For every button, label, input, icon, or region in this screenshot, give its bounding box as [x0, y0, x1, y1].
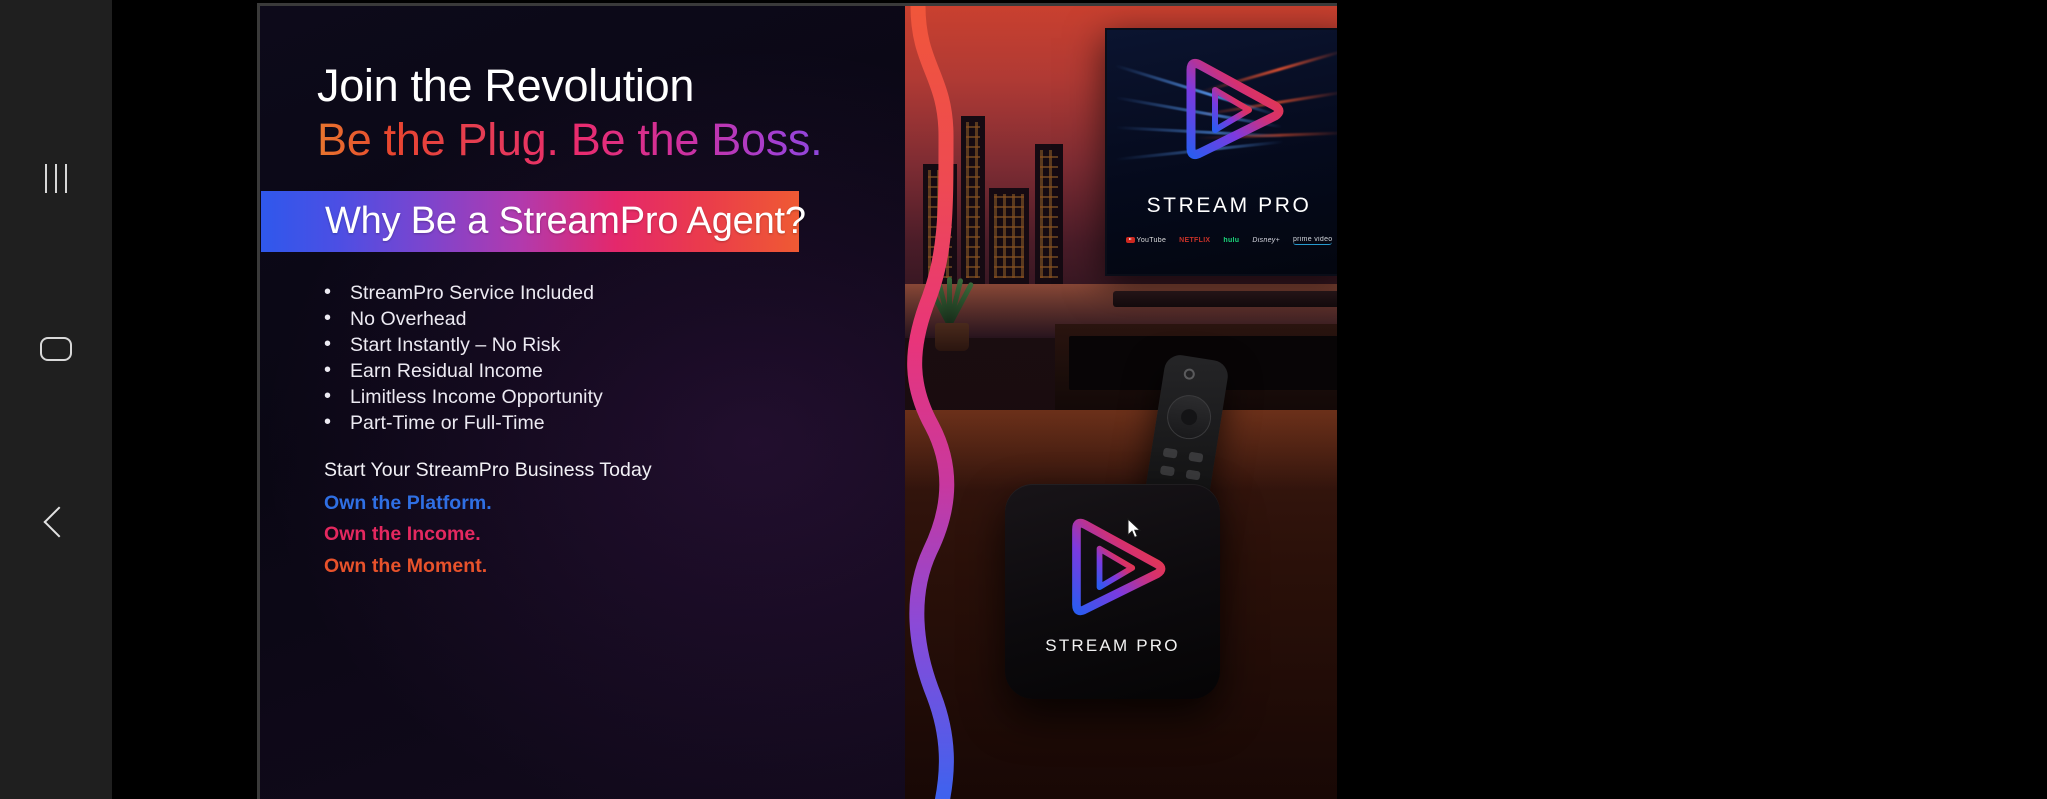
prime-video-logo-icon: prime video — [1293, 236, 1332, 245]
skyline-building — [989, 188, 1029, 284]
recents-button[interactable]: Recents — [0, 122, 112, 234]
television: STREAM PRO YouTube NETFLIX hulu Disney+ … — [1105, 28, 1337, 276]
remote-button — [1188, 452, 1203, 463]
hulu-logo-icon: hulu — [1223, 237, 1239, 244]
skyline-building — [1035, 144, 1063, 284]
headline-line-1: Join the Revolution — [317, 62, 897, 110]
stream-pro-play-logo-icon — [1171, 56, 1287, 160]
closing-own-moment: Own the Moment. — [324, 557, 884, 577]
list-item: Part-Time or Full-Time — [324, 414, 884, 434]
stream-pro-box: STREAM PRO — [1005, 484, 1220, 699]
box-brand-text: STREAM PRO — [1005, 636, 1220, 656]
mouse-cursor — [1127, 518, 1143, 540]
netflix-logo-icon: NETFLIX — [1179, 237, 1210, 244]
letterbox-right — [1337, 0, 2047, 799]
remote-button — [1160, 465, 1175, 476]
letterbox-left — [112, 0, 257, 799]
list-item: Earn Residual Income — [324, 362, 884, 382]
benefits-list: StreamPro Service Included No Overhead S… — [324, 284, 884, 440]
chevron-left-icon — [43, 506, 74, 537]
home-icon — [40, 337, 72, 361]
headline-block: Join the Revolution Be the Plug. Be the … — [317, 62, 897, 165]
recents-icon — [45, 164, 67, 193]
headline-line-2: Be the Plug. Be the Boss. — [317, 115, 897, 165]
youtube-label: YouTube — [1137, 237, 1167, 244]
slide-canvas[interactable]: Join the Revolution Be the Plug. Be the … — [257, 3, 1337, 799]
closing-lead: Start Your StreamPro Business Today — [324, 461, 884, 481]
list-item: Limitless Income Opportunity — [324, 388, 884, 408]
tv-brand-text: STREAM PRO — [1107, 194, 1337, 218]
wavy-divider — [900, 6, 970, 799]
slide-text-panel: Join the Revolution Be the Plug. Be the … — [260, 6, 920, 799]
stream-pro-play-logo-icon — [1057, 516, 1169, 616]
list-item: Start Instantly – No Risk — [324, 336, 884, 356]
youtube-logo-icon: YouTube — [1126, 237, 1167, 244]
android-navigation-bar: Recents Home Back — [0, 0, 112, 799]
remote-button — [1185, 469, 1200, 480]
home-button[interactable]: Home — [0, 293, 112, 405]
closing-own-income: Own the Income. — [324, 525, 884, 545]
prime-video-label: prime video — [1293, 236, 1332, 243]
why-banner-text: Why Be a StreamPro Agent? — [325, 200, 806, 243]
closing-block: Start Your StreamPro Business Today Own … — [324, 461, 884, 588]
why-banner: Why Be a StreamPro Agent? — [261, 191, 799, 252]
back-button[interactable]: Back — [0, 466, 112, 578]
dpad-icon — [1164, 392, 1214, 442]
list-item: StreamPro Service Included — [324, 284, 884, 304]
phone-screen: Recents Home Back Join the Revolution Be… — [0, 0, 2047, 799]
closing-own-platform: Own the Platform. — [324, 494, 884, 514]
soundbar — [1113, 291, 1337, 307]
streaming-services-row: YouTube NETFLIX hulu Disney+ prime video — [1107, 236, 1337, 245]
power-button-icon — [1183, 368, 1196, 381]
remote-button — [1163, 448, 1178, 459]
list-item: No Overhead — [324, 310, 884, 330]
disney-plus-logo-icon: Disney+ — [1252, 237, 1280, 244]
